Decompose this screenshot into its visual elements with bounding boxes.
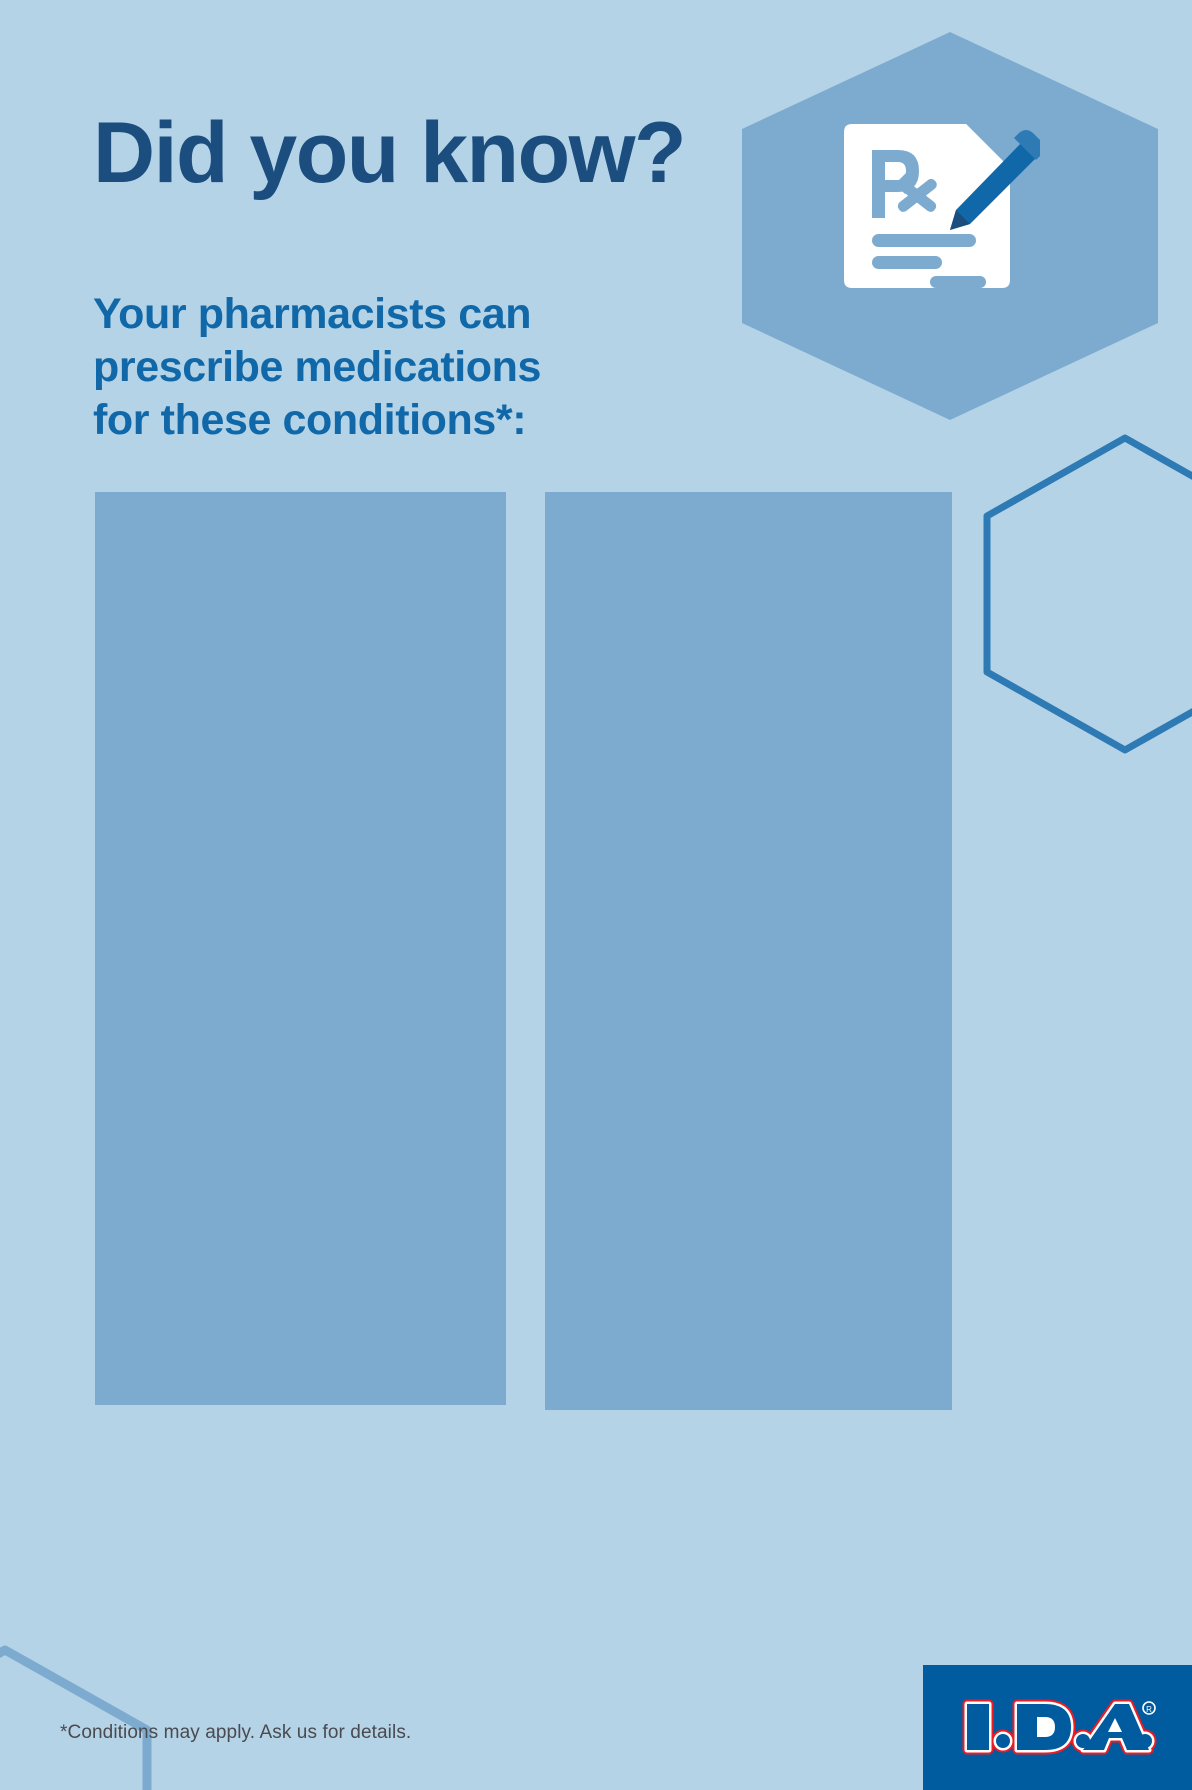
hexagon-outline-shape-right — [975, 432, 1192, 732]
ida-logo-block: R — [923, 1665, 1192, 1790]
page-title: Did you know? — [93, 110, 685, 196]
subtitle-line-3: for these conditions*: — [93, 394, 541, 447]
prescription-document-icon — [840, 120, 1040, 325]
ida-logo-icon: R — [959, 1694, 1157, 1760]
signature-line — [930, 276, 986, 288]
subtitle-line-2: prescribe medications — [93, 341, 541, 394]
hexagon-outline-shape-bottom-left — [0, 1640, 175, 1790]
paper-line-2 — [872, 256, 942, 269]
conditions-column-right — [545, 492, 952, 1410]
poster-canvas: Did you know? Your pharmacists can presc… — [0, 0, 1192, 1790]
conditions-column-left — [95, 492, 506, 1405]
paper-line-1 — [872, 234, 976, 247]
svg-text:R: R — [1146, 1705, 1152, 1714]
subtitle: Your pharmacists can prescribe medicatio… — [93, 288, 541, 447]
registered-mark: R — [1143, 1702, 1155, 1714]
footnote-disclaimer: *Conditions may apply. Ask us for detail… — [60, 1722, 411, 1744]
subtitle-line-1: Your pharmacists can — [93, 288, 541, 341]
